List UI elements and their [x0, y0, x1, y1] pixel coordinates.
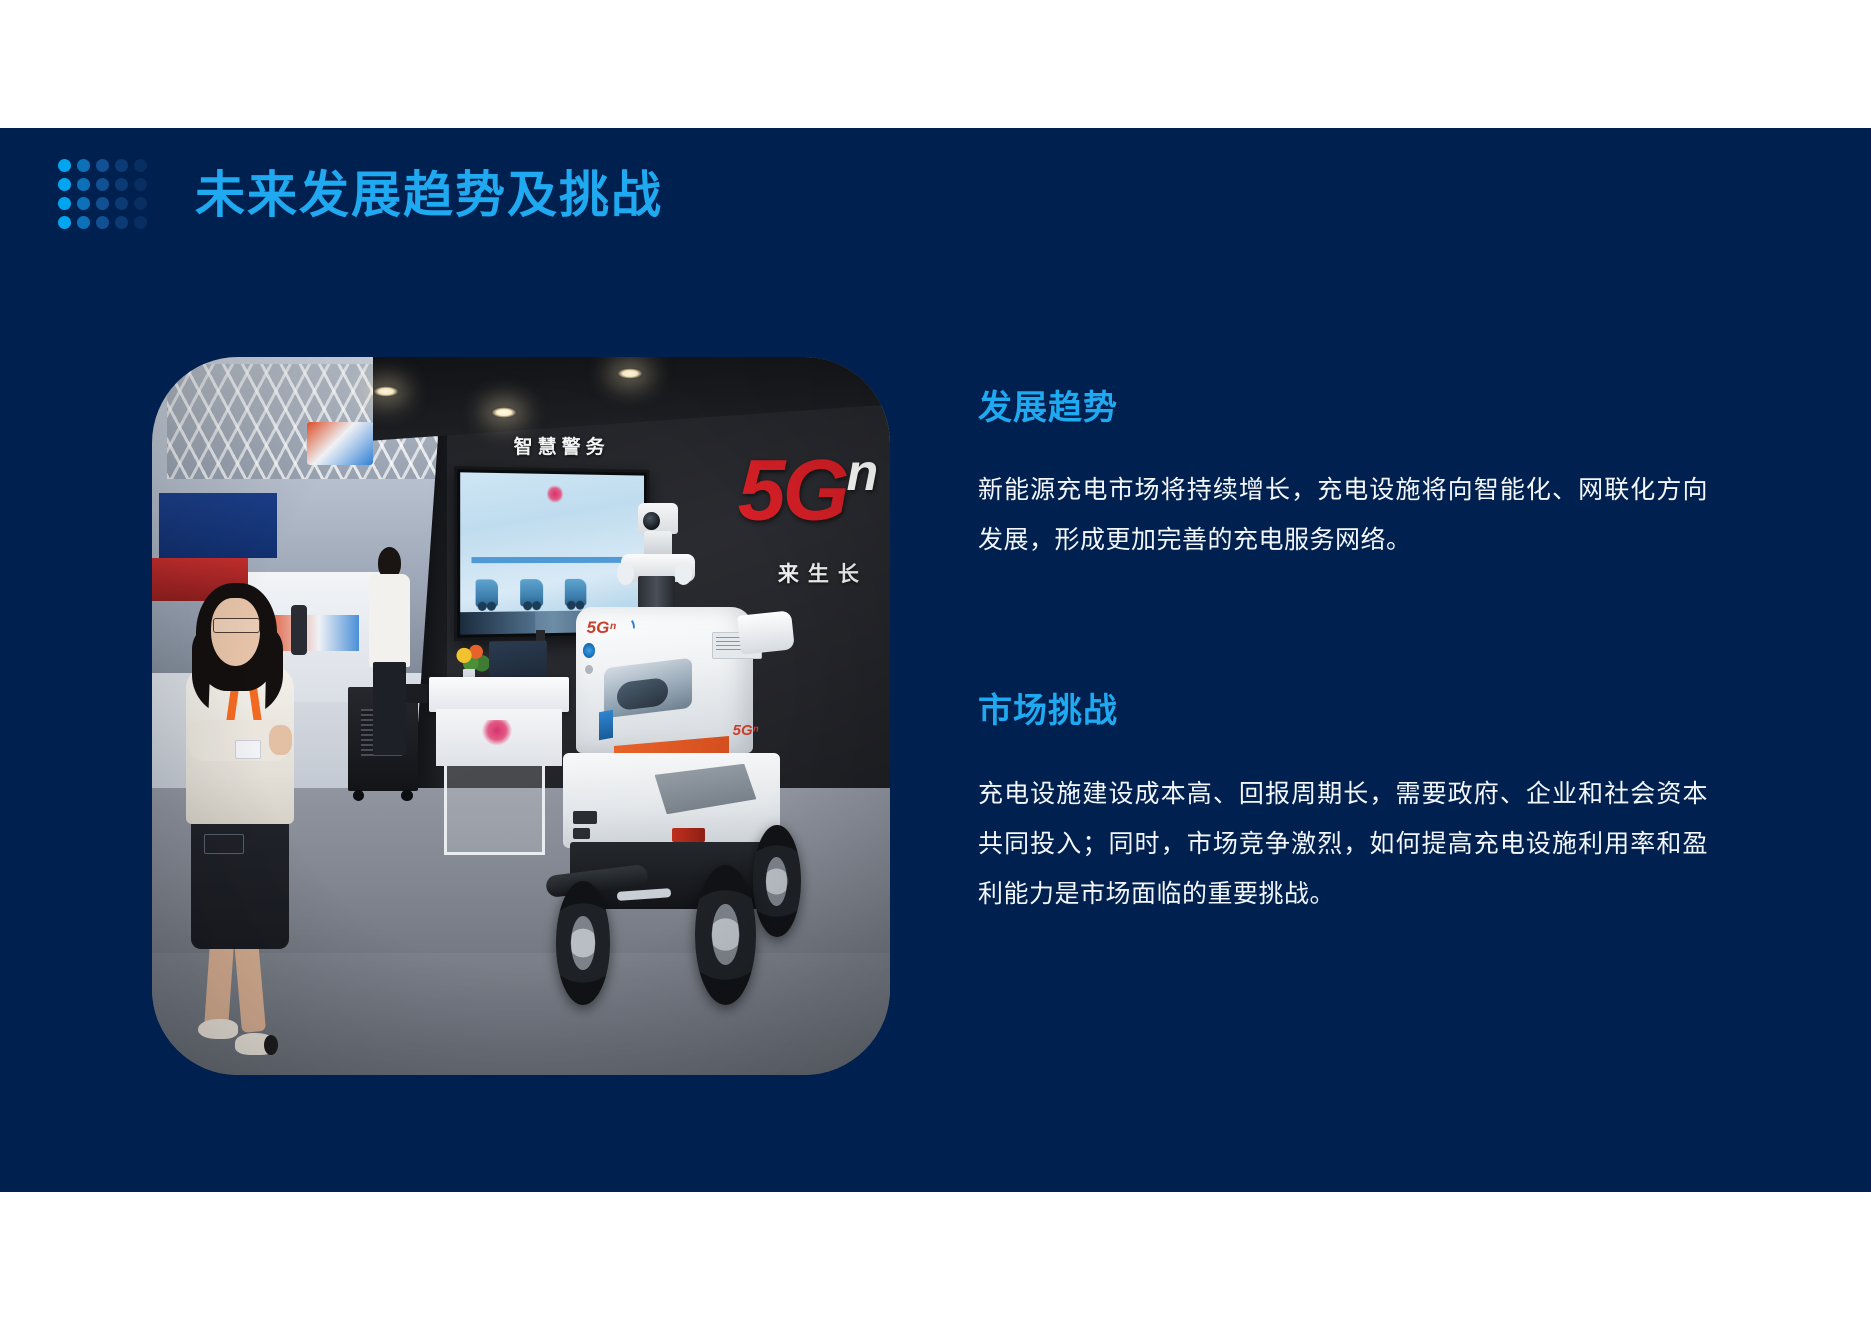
presenter-skirt-pocket [204, 834, 244, 853]
presenter-badge [235, 740, 261, 759]
content-column: 发展趋势 新能源充电市场将持续增长，充电设施将向智能化、网联化方向发展，形成更加… [978, 390, 1708, 919]
page-title: 未来发展趋势及挑战 [195, 170, 663, 220]
robot-wheel [556, 881, 610, 1004]
staff-man-legs [373, 662, 405, 755]
robot-vent [573, 828, 590, 839]
presenter-shoe-tip [264, 1035, 278, 1055]
screen-footer-band-left [460, 611, 535, 635]
screen-robot-graphic [475, 580, 498, 608]
section-development-trend: 发展趋势 新能源充电市场将持续增长，充电设施将向智能化、网联化方向发展，形成更加… [978, 390, 1708, 565]
visitor-far [291, 605, 307, 655]
section-body: 新能源充电市场将持续增长，充电设施将向智能化、网联化方向发展，形成更加完善的充电… [978, 465, 1708, 565]
security-robot: 5Gⁿ 5Gⁿ [536, 501, 875, 1061]
cabinet-caster [353, 790, 364, 801]
robot-red-light [672, 828, 706, 841]
blue-banner [159, 493, 277, 558]
staff-man-body [369, 574, 410, 667]
ceiling-light-icon [617, 368, 643, 379]
desk-legs [444, 766, 546, 855]
section-heading: 发展趋势 [978, 390, 1708, 427]
robot-wheel [695, 865, 756, 1005]
booth-accent-stripe [270, 615, 359, 651]
slide-canvas: 未来发展趋势及挑战 智慧警务 [0, 0, 1871, 1323]
robot-wheel [753, 825, 801, 937]
robot-arm [738, 610, 796, 655]
presenter-skirt [191, 806, 288, 950]
exhibition-photo: 智慧警务 5Gn 来生长 [152, 357, 890, 1075]
robot-5g-badge-small: 5Gⁿ [733, 722, 759, 739]
robot-camera-lens-icon [643, 512, 660, 530]
section-heading: 市场挑战 [978, 693, 1708, 730]
photo-scene: 智慧警务 5Gn 来生长 [152, 357, 890, 1075]
robot-shoulder-left [617, 562, 634, 584]
section-body: 充电设施建设成本高、回报周期长，需要政府、企业和社会资本共同投入；同时，市场竞争… [978, 769, 1708, 919]
desk-logo-icon [480, 720, 513, 749]
small-banner [307, 422, 373, 465]
dot-grid-icon [58, 159, 153, 235]
robot-vent [573, 811, 597, 823]
section-market-challenge: 市场挑战 充电设施建设成本高、回报周期长，需要政府、企业和社会资本共同投入；同时… [978, 693, 1708, 918]
slide-title-row: 未来发展趋势及挑战 [58, 140, 663, 250]
cabinet-caster [401, 790, 412, 801]
presenter-shoe [198, 1019, 238, 1039]
presenter-hand [269, 725, 293, 755]
robot-shoulder-right [675, 562, 692, 584]
robot-5g-badge: 5Gⁿ [587, 618, 616, 638]
presenter-glasses [213, 618, 260, 634]
robot-blue-strip [599, 709, 613, 739]
robot-camera-neck [644, 531, 671, 556]
brand-logo-superscript: n [846, 444, 875, 502]
ceiling-light-icon [373, 386, 399, 397]
wall-headline-text: 智慧警务 [514, 432, 610, 459]
